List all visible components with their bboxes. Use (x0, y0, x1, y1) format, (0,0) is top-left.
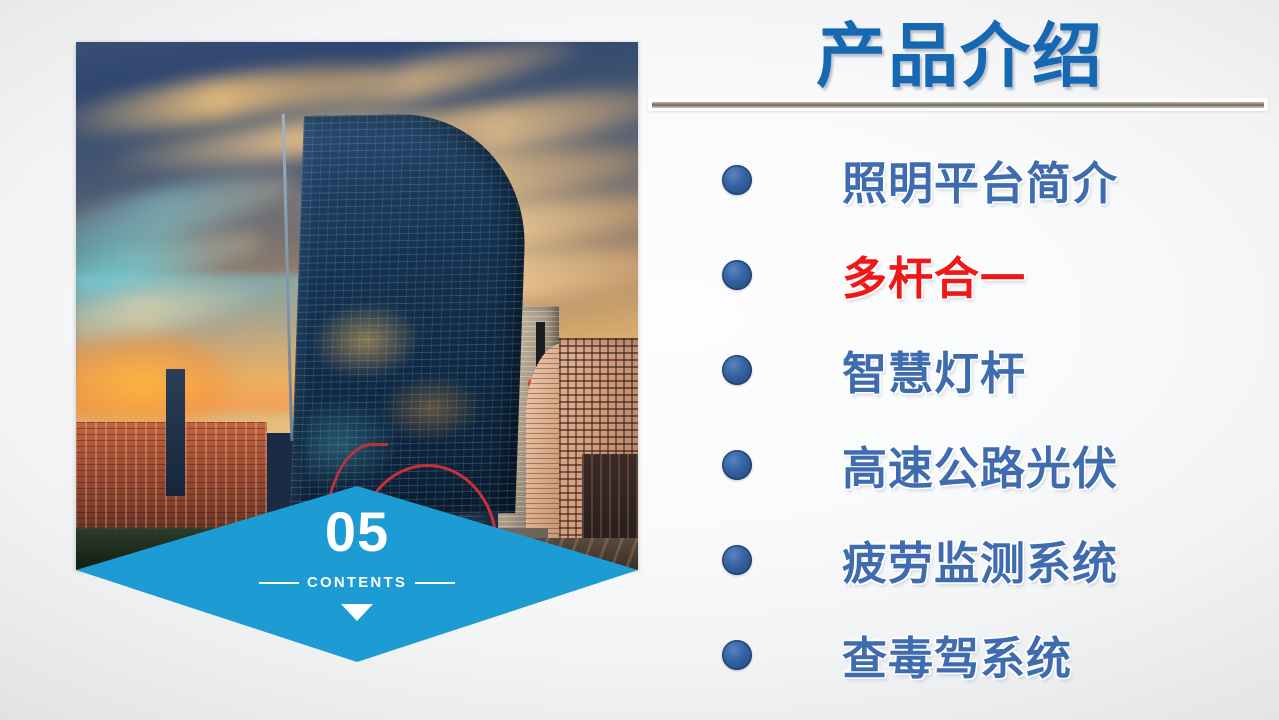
caption-rule-right (415, 582, 455, 584)
bullet-icon (722, 640, 752, 670)
title-divider (648, 98, 1268, 111)
diamond-lower-half (76, 570, 638, 662)
caption-rule-left (259, 582, 299, 584)
cityscape-photo-card (76, 42, 638, 570)
list-item[interactable]: 疲劳监测系统 (700, 512, 1270, 607)
list-item[interactable]: 照明平台简介 (700, 132, 1270, 227)
foreground-ground (323, 538, 638, 570)
list-item[interactable]: 多杆合一 (700, 227, 1270, 322)
list-item-label: 查毒驾系统 (842, 622, 1072, 687)
divider-inner-bar (652, 102, 1264, 108)
contents-caption: CONTENTS (307, 574, 407, 591)
treeline (76, 528, 290, 570)
bullet-icon (722, 450, 752, 480)
cityscape-photo (76, 42, 638, 570)
page-title-text: 产品介绍 (816, 0, 1104, 101)
page-title: 产品介绍 (648, 4, 1272, 96)
presentation-slide: 05 CONTENTS 产品介绍 照明平台简介 多杆合一 智慧灯杆 (0, 0, 1279, 720)
contents-caption-row: CONTENTS (259, 574, 455, 591)
background-spire (166, 369, 185, 496)
bullet-icon (722, 260, 752, 290)
list-item-label: 疲劳监测系统 (842, 527, 1118, 592)
list-item-label: 高速公路光伏 (842, 432, 1118, 497)
list-item[interactable]: 查毒驾系统 (700, 607, 1270, 702)
list-item[interactable]: 智慧灯杆 (700, 322, 1270, 417)
list-item-label: 多杆合一 (842, 242, 1026, 307)
list-item[interactable]: 高速公路光伏 (700, 417, 1270, 512)
curved-glass-skyscraper (290, 112, 529, 517)
bullet-icon (722, 545, 752, 575)
caret-down-icon (341, 604, 373, 621)
list-item-label: 照明平台简介 (842, 147, 1118, 212)
contents-list: 照明平台简介 多杆合一 智慧灯杆 高速公路光伏 疲劳监测系统 查毒驾系统 (700, 132, 1270, 702)
list-item-label: 智慧灯杆 (842, 337, 1026, 402)
bullet-icon (722, 165, 752, 195)
bullet-icon (722, 355, 752, 385)
